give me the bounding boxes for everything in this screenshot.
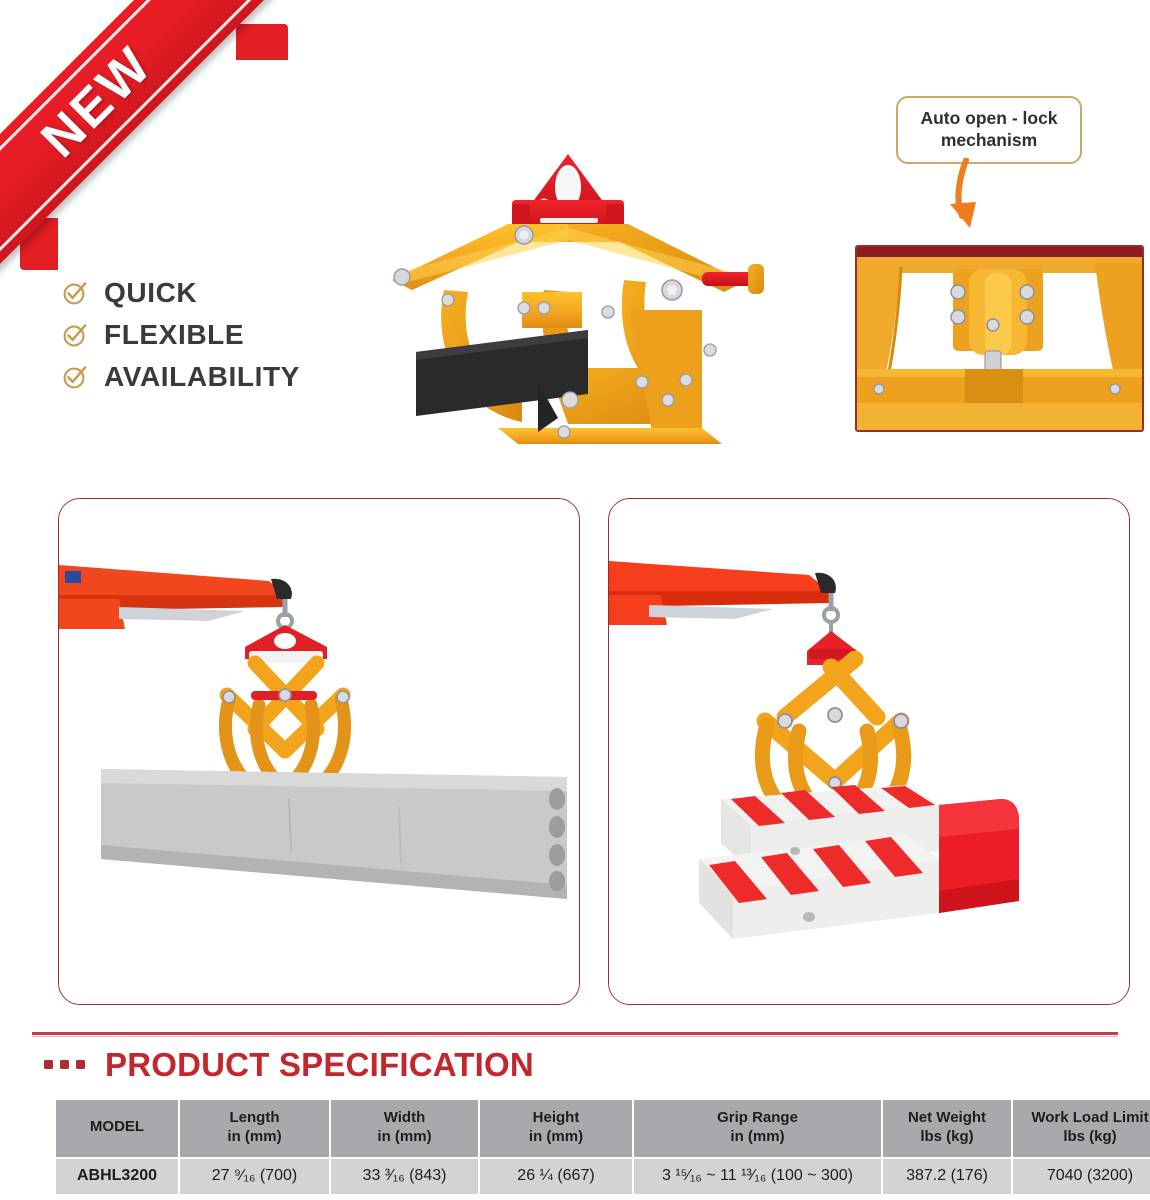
cell-model: ABHL3200 — [56, 1159, 180, 1194]
column-header-unit: in (mm) — [636, 1128, 879, 1147]
cell-net-weight: 387.2 (176) — [883, 1159, 1013, 1194]
spec-divider-rule-soft — [32, 1036, 1118, 1037]
column-header-name: MODEL — [90, 1118, 144, 1135]
product-specification-table: MODEL Length in (mm) Width in (mm) Heigh… — [56, 1100, 1150, 1194]
new-badge-ribbon: NEW — [0, 0, 300, 290]
column-header-unit: lbs (kg) — [885, 1128, 1009, 1147]
column-header-name: Net Weight — [908, 1109, 986, 1126]
feature-label: FLEXIBLE — [104, 321, 244, 349]
column-header-name: Width — [384, 1109, 426, 1126]
feature-list: QUICK FLEXIBLE AVAILABILITY — [62, 272, 300, 398]
column-header-name: Height — [533, 1109, 580, 1126]
ribbon-tail-top — [236, 24, 288, 60]
check-circle-icon — [62, 280, 88, 306]
column-header-model: MODEL — [56, 1100, 180, 1159]
ribbon-tail-left — [20, 218, 58, 270]
column-header-width: Width in (mm) — [331, 1100, 480, 1159]
curved-down-arrow-icon — [936, 158, 1016, 234]
spec-section-title: PRODUCT SPECIFICATION — [105, 1048, 534, 1081]
column-header-unit: in (mm) — [333, 1128, 476, 1147]
column-header-name: Work Load Limit — [1031, 1109, 1148, 1126]
column-header-name: Length — [230, 1109, 280, 1126]
new-badge-label: NEW — [0, 0, 270, 275]
product-sheet-page: NEW QUICK FLEXIBLE — [0, 0, 1150, 1200]
column-header-unit: lbs (kg) — [1015, 1128, 1150, 1147]
column-header-unit: in (mm) — [182, 1128, 327, 1147]
feature-label: AVAILABILITY — [104, 363, 300, 391]
callout-auto-open-lock: Auto open - lock mechanism — [896, 96, 1082, 164]
spec-divider-rule — [32, 1032, 1118, 1035]
cell-height: 26 ¼ (667) — [480, 1159, 634, 1194]
feature-item-availability: AVAILABILITY — [62, 356, 300, 398]
cell-grip-range: 3 ¹⁵⁄₁₆ ~ 11 ¹³⁄₁₆ (100 ~ 300) — [634, 1159, 883, 1194]
table-row: ABHL3200 27 ⁹⁄₁₆ (700) 33 ³⁄₁₆ (843) 26 … — [56, 1159, 1150, 1194]
feature-item-flexible: FLEXIBLE — [62, 314, 300, 356]
application-photo-panel-right — [608, 498, 1130, 1005]
feature-item-quick: QUICK — [62, 272, 300, 314]
column-header-height: Height in (mm) — [480, 1100, 634, 1159]
column-header-work-load-limit: Work Load Limit lbs (kg) — [1013, 1100, 1150, 1159]
column-header-grip-range: Grip Range in (mm) — [634, 1100, 883, 1159]
ribbon-band: NEW — [0, 0, 282, 287]
application-photo-panel-left — [58, 498, 580, 1005]
hero-product-photo — [372, 132, 802, 452]
check-circle-icon — [62, 322, 88, 348]
cell-work-load-limit: 7040 (3200) — [1013, 1159, 1150, 1194]
spec-bullet-dots-icon — [44, 1060, 92, 1069]
check-circle-icon — [62, 364, 88, 390]
feature-label: QUICK — [104, 279, 197, 307]
cell-length: 27 ⁹⁄₁₆ (700) — [180, 1159, 331, 1194]
column-header-name: Grip Range — [717, 1109, 798, 1126]
spec-title-row: PRODUCT SPECIFICATION — [44, 1048, 534, 1081]
table-header-row: MODEL Length in (mm) Width in (mm) Heigh… — [56, 1100, 1150, 1159]
column-header-length: Length in (mm) — [180, 1100, 331, 1159]
cell-width: 33 ³⁄₁₆ (843) — [331, 1159, 480, 1194]
callout-line-1: Auto open - lock — [908, 107, 1070, 129]
callout-line-2: mechanism — [908, 129, 1070, 151]
inset-detail-photo — [855, 245, 1144, 432]
column-header-unit: in (mm) — [482, 1128, 630, 1147]
column-header-net-weight: Net Weight lbs (kg) — [883, 1100, 1013, 1159]
